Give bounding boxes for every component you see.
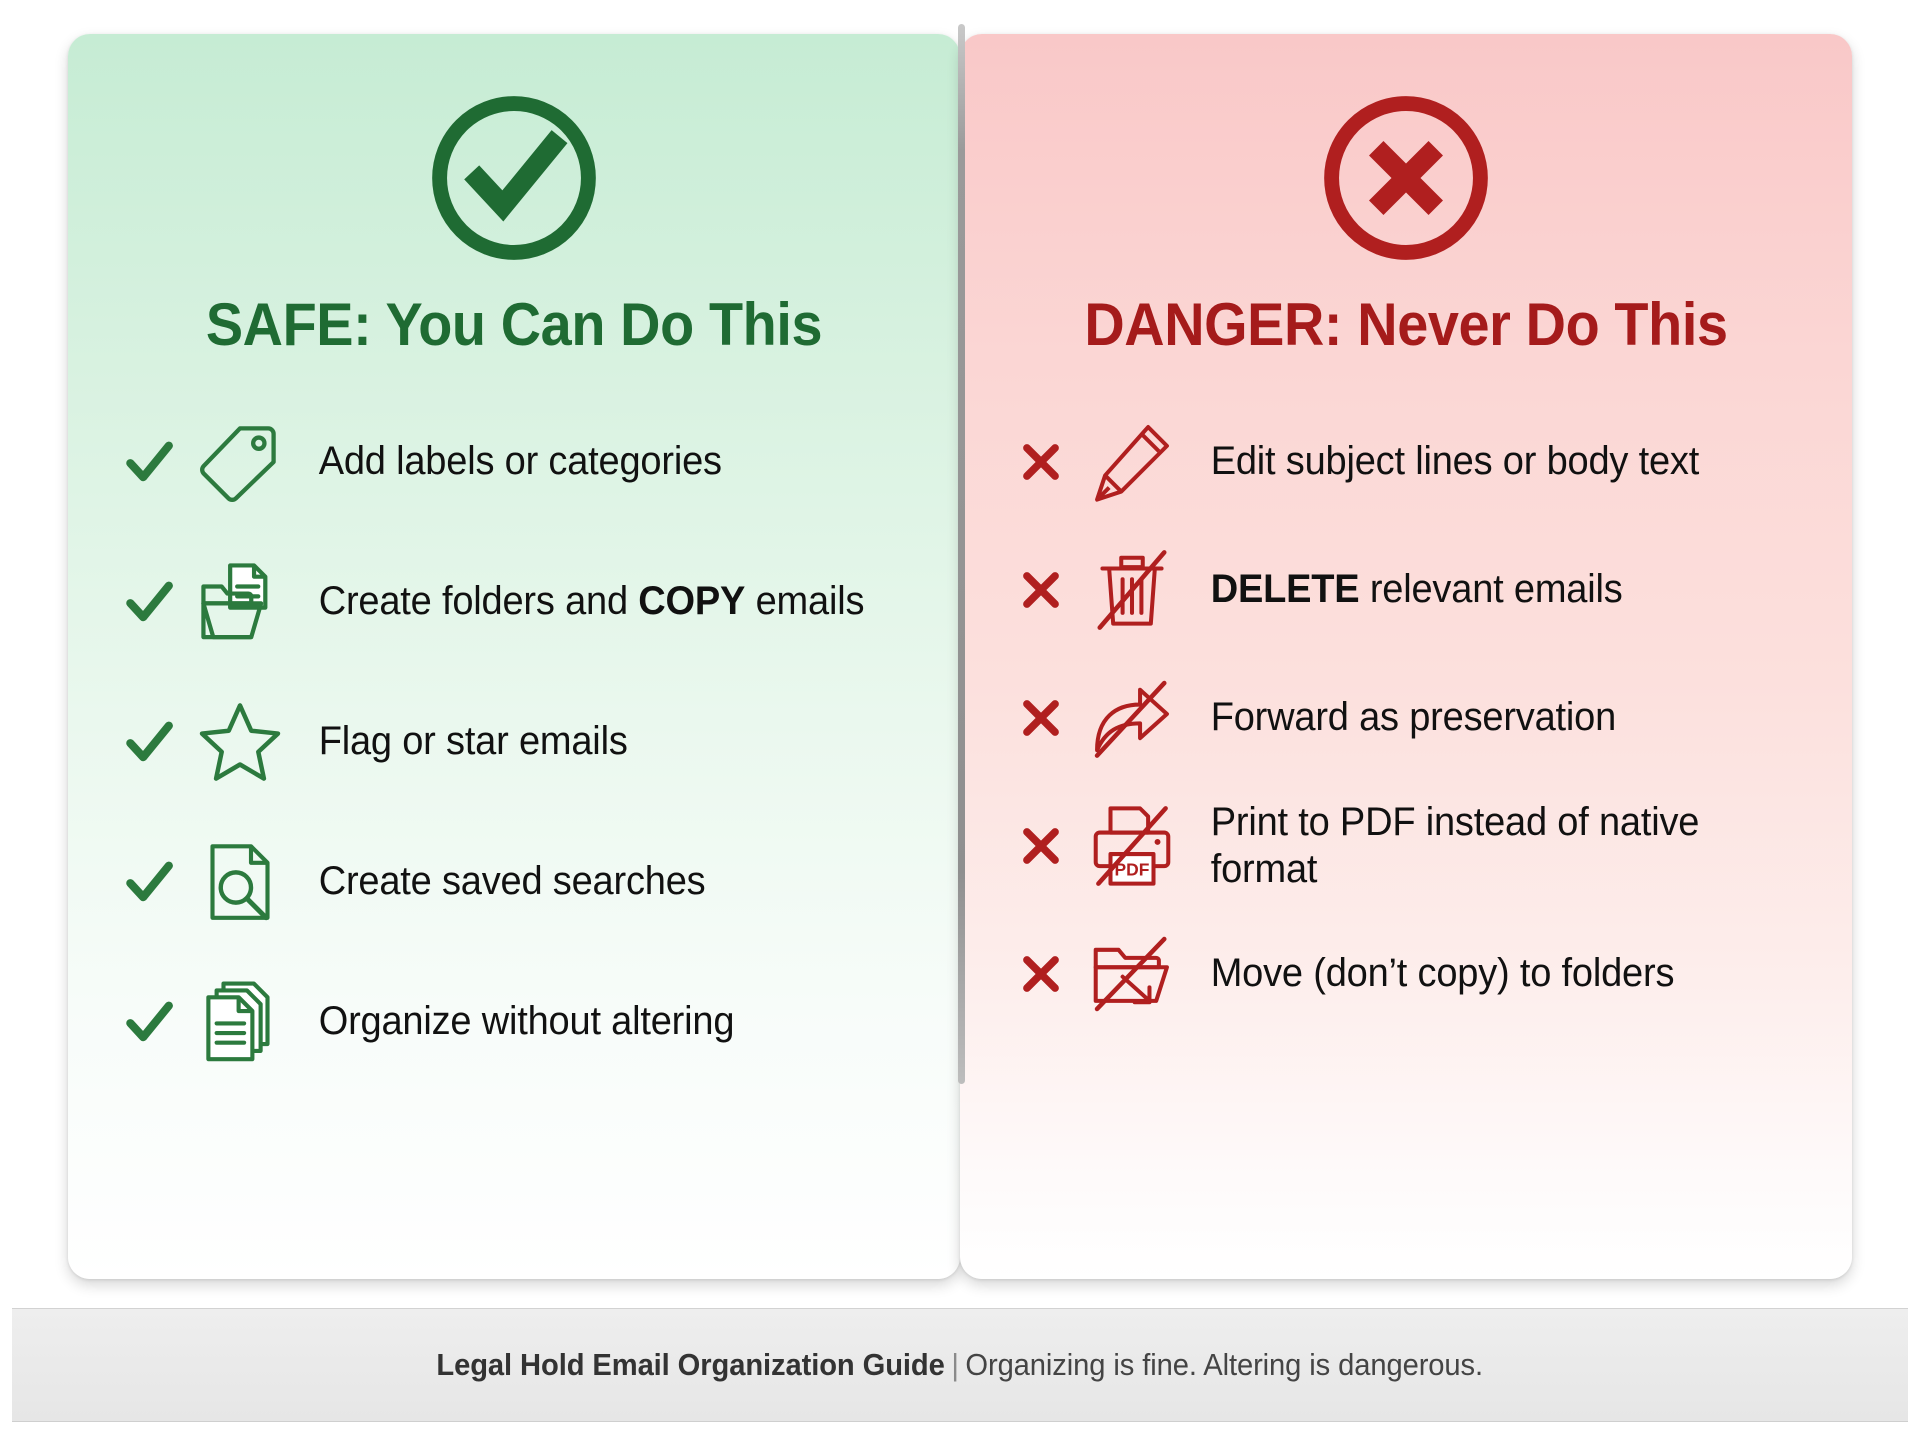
list-item-label: Edit subject lines or body text xyxy=(1186,438,1699,485)
check-icon xyxy=(112,714,186,770)
list-item-label: Create saved searches xyxy=(294,858,705,905)
check-icon xyxy=(112,574,186,630)
footer-text: Legal Hold Email Organization Guide|Orga… xyxy=(437,1347,1484,1383)
danger-list: Edit subject lines or body text xyxy=(1004,407,1808,1029)
list-item-label: Add labels or categories xyxy=(294,438,722,485)
x-icon xyxy=(1004,820,1078,872)
x-icon xyxy=(1004,692,1078,744)
list-item: DELETE relevant emails xyxy=(1004,535,1808,645)
check-icon xyxy=(112,854,186,910)
list-item: PDF Print to PDF instead of native forma… xyxy=(1004,791,1808,901)
list-item-label: Create folders and COPY emails xyxy=(294,578,864,625)
list-item: Create saved searches xyxy=(112,827,916,937)
stacked-documents-icon xyxy=(186,978,294,1066)
cards-container: SAFE: You Can Do This xyxy=(0,0,1920,1290)
folder-document-icon xyxy=(186,557,294,647)
x-icon xyxy=(1004,564,1078,616)
pencil-edit-icon xyxy=(1078,419,1186,505)
safe-card: SAFE: You Can Do This xyxy=(68,34,960,1279)
safe-list: Add labels or categories xyxy=(112,407,916,1077)
list-item-label: Flag or star emails xyxy=(294,718,628,765)
x-circle-icon xyxy=(1004,80,1808,276)
safe-card-title: SAFE: You Can Do This xyxy=(140,290,888,359)
footer-title: Legal Hold Email Organization Guide xyxy=(437,1347,945,1382)
printer-pdf-slashed-icon: PDF xyxy=(1078,803,1186,889)
list-item: Organize without altering xyxy=(112,967,916,1077)
trash-slashed-icon xyxy=(1078,547,1186,633)
footer-bar: Legal Hold Email Organization Guide|Orga… xyxy=(12,1308,1908,1422)
list-item: Add labels or categories xyxy=(112,407,916,517)
danger-card-title: DANGER: Never Do This xyxy=(1032,290,1780,359)
list-item: Flag or star emails xyxy=(112,687,916,797)
check-icon xyxy=(112,994,186,1050)
list-item-label: DELETE relevant emails xyxy=(1186,566,1623,613)
check-icon xyxy=(112,434,186,490)
x-icon xyxy=(1004,436,1078,488)
danger-card: DANGER: Never Do This xyxy=(960,34,1852,1279)
footer-separator: | xyxy=(945,1347,966,1382)
footer-tagline: Organizing is fine. Altering is dangerou… xyxy=(966,1347,1484,1382)
list-item: Move (don’t copy) to folders xyxy=(1004,919,1808,1029)
star-icon xyxy=(186,697,294,787)
list-item: Forward as preservation xyxy=(1004,663,1808,773)
list-item-label: Move (don’t copy) to folders xyxy=(1186,950,1674,997)
tag-icon xyxy=(186,419,294,505)
list-item: Edit subject lines or body text xyxy=(1004,407,1808,517)
check-circle-icon xyxy=(112,80,916,276)
x-icon xyxy=(1004,948,1078,1000)
list-item: Create folders and COPY emails xyxy=(112,547,916,657)
infographic-page: SAFE: You Can Do This xyxy=(0,0,1920,1434)
document-search-icon xyxy=(186,838,294,926)
folder-move-slashed-icon xyxy=(1078,931,1186,1017)
list-item-label: Organize without altering xyxy=(294,998,734,1045)
forward-slashed-icon xyxy=(1078,675,1186,761)
card-divider xyxy=(958,24,965,1084)
list-item-label: Print to PDF instead of native format xyxy=(1186,799,1777,893)
list-item-label: Forward as preservation xyxy=(1186,694,1616,741)
